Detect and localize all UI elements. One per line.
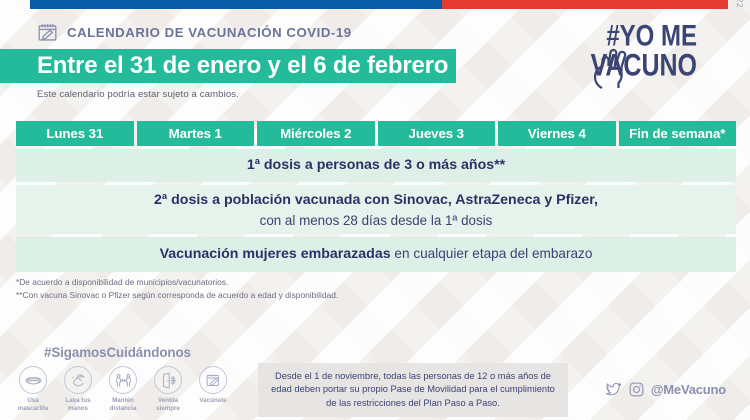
row-embarazadas-text: Vacunación mujeres embarazadas [160,246,391,262]
page-title: Entre el 31 de enero y el 6 de febrero [37,52,448,80]
care-item-ventilate: Ventilasiempre [149,366,187,413]
care-item-vaccinate: Vacúnate [194,366,232,413]
footnote-one: *De acuerdo a disponibilidad de municipi… [16,276,338,289]
pase-de-movilidad-notice: Desde el 1 de noviembre, todas las perso… [258,363,568,417]
chile-flag-bar [30,0,728,9]
row-segunda-dosis-subtext: con al menos 28 días desde la 1ª dosis [154,212,598,229]
subject-to-change-note: Este calendario podría estar sujeto a ca… [37,89,239,100]
table-column-viernes: Viernes 4 [498,121,616,146]
flag-red-segment [442,0,728,9]
infographic-page: CALENDARIO DE VACUNACIÓN COVID-19 Entre … [0,0,750,420]
table-column-miercoles: Miércoles 2 [257,121,375,146]
social-handles[interactable]: @MeVacuno [605,381,726,398]
row-primera-dosis-text: 1ª dosis a personas de 3 o más años** [247,157,505,173]
table-column-jueves: Jueves 3 [378,121,496,146]
table-column-martes: Martes 1 [137,121,255,146]
table-column-lunes: Lunes 31 [16,121,134,146]
calendar-pen-icon [37,22,58,43]
care-label-distance: Manténdistancia [110,397,137,413]
header-kicker: CALENDARIO DE VACUNACIÓN COVID-19 [37,22,352,43]
flag-blue-segment [30,0,442,9]
table-row: 2ª dosis a población vacunada con Sinova… [16,185,736,234]
mask-icon [19,366,47,394]
care-measures-list: Usamascarilla Lava tusmanos [14,366,232,413]
date-stamp: 27.01.2022 [735,0,744,8]
social-handle-text[interactable]: @MeVacuno [651,382,726,397]
care-item-mask: Usamascarilla [14,366,52,413]
footnote-two: **Con vacuna Sinovac o Pfizer según corr… [16,289,338,302]
footnotes: *De acuerdo a disponibilidad de municipi… [16,276,338,302]
kicker-text: CALENDARIO DE VACUNACIÓN COVID-19 [67,25,352,40]
care-label-wash-hands: Lava tusmanos [65,397,90,413]
hashtag-sigamos-cuidandonos: #SigamosCuidándonos [44,345,191,360]
instagram-icon[interactable] [628,381,645,398]
row-embarazadas-subtext: en cualquier etapa del embarazo [391,246,593,261]
care-item-distance: Manténdistancia [104,366,142,413]
care-label-vaccinate: Vacúnate [199,397,226,405]
care-item-wash-hands: Lava tusmanos [59,366,97,413]
yo-me-vacuno-logo: #YO ME VACUNO [584,18,702,90]
vaccination-calendar-table: Lunes 31 Martes 1 Miércoles 2 Jueves 3 V… [16,121,736,272]
table-column-fin-de-semana: Fin de semana* [619,121,737,146]
row-segunda-dosis-text: 2ª dosis a población vacunada con Sinova… [154,192,598,208]
logo-line2: VACUNO [591,47,697,82]
care-label-mask: Usamascarilla [18,397,48,413]
title-band: Entre el 31 de enero y el 6 de febrero [0,49,456,83]
vaccinate-icon [199,366,227,394]
twitter-icon[interactable] [605,381,622,398]
wash-hands-icon [64,366,92,394]
distance-icon [109,366,137,394]
table-header-row: Lunes 31 Martes 1 Miércoles 2 Jueves 3 V… [16,121,736,146]
table-row: 1ª dosis a personas de 3 o más años** [16,149,736,182]
table-row: Vacunación mujeres embarazadas en cualqu… [16,237,736,272]
care-label-ventilate: Ventilasiempre [156,397,180,413]
ventilate-icon [154,366,182,394]
